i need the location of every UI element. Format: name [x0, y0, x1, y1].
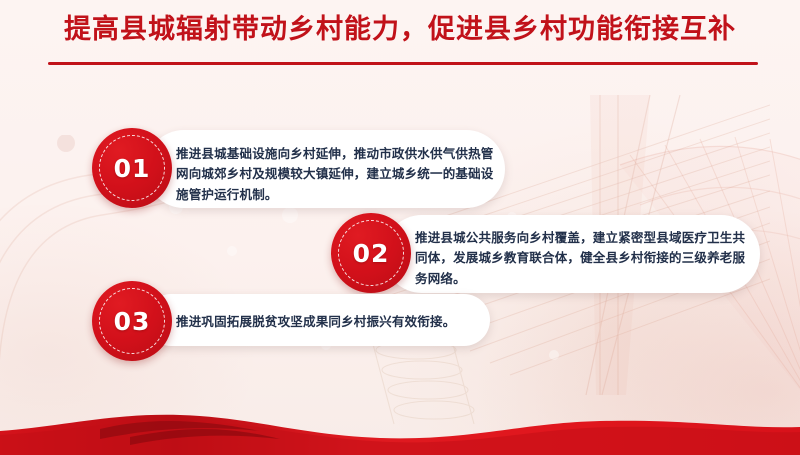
item-number-label: 03 [114, 307, 151, 336]
item-description: 推进巩固拓展脱贫攻坚成果同乡村振兴有效衔接。 [176, 312, 486, 332]
slide-root: 提高县城辐射带动乡村能力，促进县乡村功能衔接互补 01 推进县城基础设施向乡村延… [0, 0, 800, 455]
item-description: 推进县城基础设施向乡村延伸，推动市政供水供气供热管网向城郊乡村及规模较大镇延伸，… [176, 144, 494, 205]
item-number-label: 01 [114, 154, 151, 183]
item-number-badge: 03 [92, 281, 172, 361]
item-number-label: 02 [353, 239, 390, 268]
item-number-badge: 02 [331, 213, 411, 293]
item-list: 01 推进县城基础设施向乡村延伸，推动市政供水供气供热管网向城郊乡村及规模较大镇… [0, 0, 800, 455]
item-number-badge: 01 [92, 128, 172, 208]
item-description: 推进县城公共服务向乡村覆盖，建立紧密型县域医疗卫生共同体，发展城乡教育联合体，健… [415, 228, 750, 289]
